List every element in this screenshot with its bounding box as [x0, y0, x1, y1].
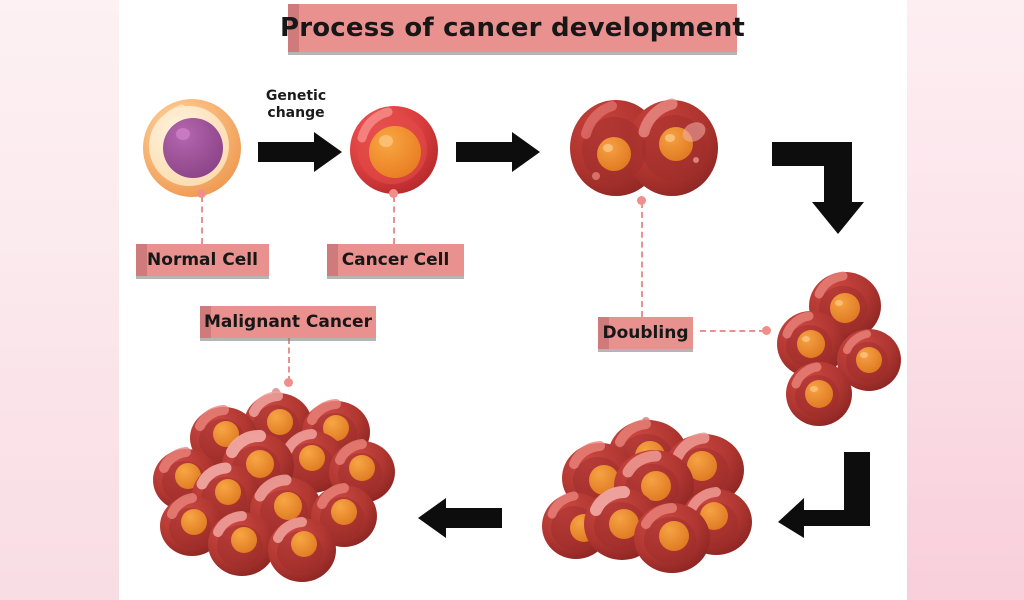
arrow-genetic-change [258, 132, 342, 172]
note-genetic-change-line1: Genetic [255, 88, 337, 105]
arrow-division [456, 132, 540, 172]
connector-dot-normal-cell [197, 189, 206, 198]
connector-dot-doubling [762, 326, 771, 335]
page-title-text: Process of cancer development [280, 13, 745, 43]
growing-tumor-illustration [542, 412, 758, 578]
label-cancer-cell-text: Cancer Cell [342, 250, 450, 270]
label-cancer-cell: Cancer Cell [327, 244, 464, 276]
infographic-canvas: Process of cancer development [0, 0, 1024, 600]
arrow-elbow-top [772, 140, 864, 234]
doubled-cell-illustration [568, 98, 720, 198]
connector-dot-cancer-cell [389, 189, 398, 198]
connector-dot-malignant [284, 378, 293, 387]
decorative-band-left [0, 0, 119, 600]
label-normal-cell-text: Normal Cell [147, 250, 258, 270]
arrow-to-malignant [418, 498, 502, 538]
note-genetic-change-line2: change [255, 105, 337, 122]
cancer-cell-illustration [348, 104, 440, 196]
note-genetic-change: Genetic change [255, 88, 337, 121]
malignant-tumor-illustration [156, 386, 396, 586]
label-doubling-text: Doubling [603, 323, 689, 343]
connector-dot-doubled-cell [637, 196, 646, 205]
label-doubling: Doubling [598, 317, 693, 349]
label-malignant-cancer: Malignant Cancer [200, 306, 376, 338]
decorative-band-right [907, 0, 1024, 600]
page-title: Process of cancer development [288, 4, 737, 52]
label-malignant-cancer-text: Malignant Cancer [204, 312, 372, 332]
label-normal-cell: Normal Cell [136, 244, 269, 276]
normal-cell-illustration [140, 96, 244, 200]
arrow-elbow-bottom [778, 452, 870, 538]
doubling-cluster-illustration [775, 272, 901, 428]
